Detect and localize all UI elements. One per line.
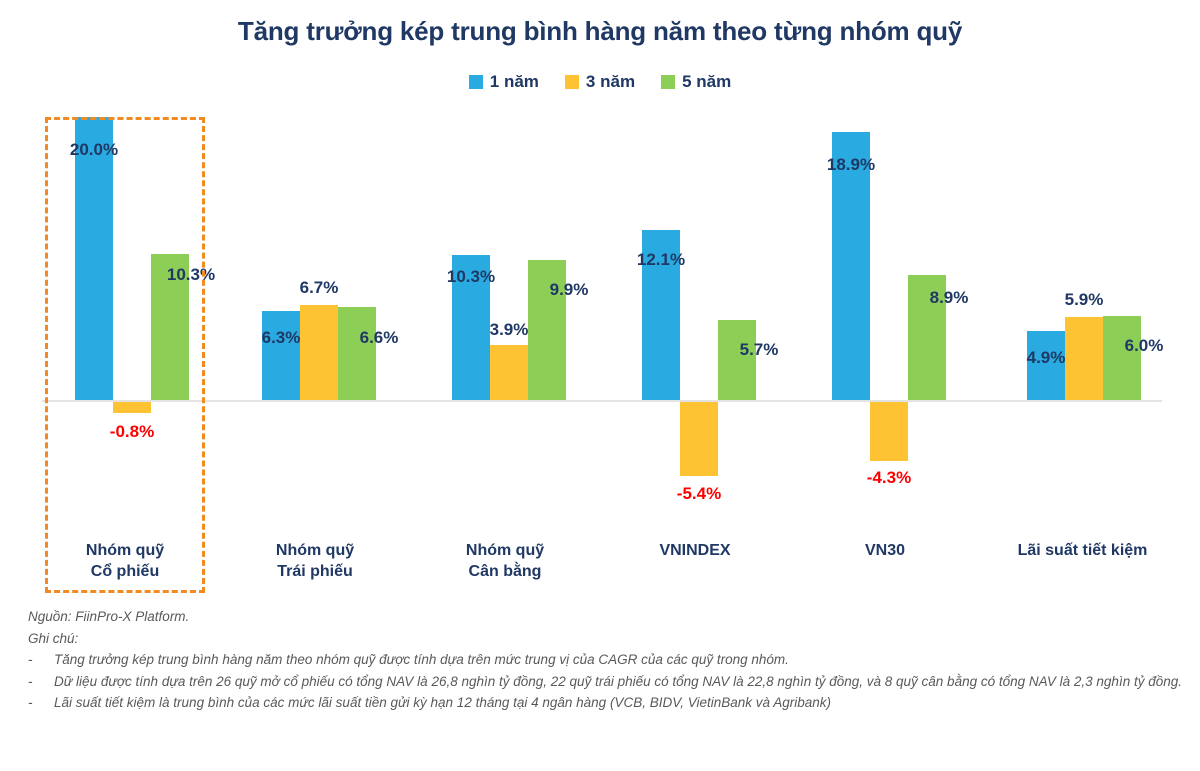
bar-value-1-nam: 18.9% [796,155,906,175]
bar-value-1-nam: 6.3% [226,328,336,348]
legend-item-3-nam[interactable]: 3 năm [565,72,635,92]
bar-group-vn30: 18.9% -4.3% 8.9% VN30 [805,100,965,600]
bar-value-1-nam: 20.0% [39,140,149,160]
bar-3-nam[interactable] [490,345,528,400]
bar-value-3-nam: -4.3% [834,468,944,488]
bar-1-nam[interactable] [262,311,300,400]
bar-value-5-nam: 5.7% [704,340,814,360]
bar-3-nam[interactable] [870,402,908,461]
bar-5-nam[interactable] [718,320,756,400]
legend-item-1-nam[interactable]: 1 năm [469,72,539,92]
legend-label: 5 năm [682,72,731,92]
bar-group-co-phieu: 20.0% -0.8% 10.3% Nhóm quỹ Cổ phiếu [45,100,205,600]
bar-value-1-nam: 10.3% [416,267,526,287]
legend-swatch-icon [565,75,579,89]
bar-5-nam[interactable] [1103,316,1141,400]
bar-group-trai-phieu: 6.3% 6.7% 6.6% Nhóm quỹ Trái phiếu [235,100,395,600]
legend-label: 1 năm [490,72,539,92]
category-label-vn30: VN30 [805,540,965,561]
bar-value-5-nam: 9.9% [514,280,624,300]
bar-5-nam[interactable] [338,307,376,400]
note-item: - Lãi suất tiết kiệm là trung bình của c… [28,692,1188,714]
note-dash: - [28,692,54,714]
category-label-line1: Nhóm quỹ [235,540,395,561]
category-label-line1: VN30 [805,540,965,561]
bar-value-3-nam: -5.4% [644,484,754,504]
category-label-co-phieu: Nhóm quỹ Cổ phiếu [45,540,205,582]
page-title: Tăng trưởng kép trung bình hàng năm theo… [0,16,1200,47]
category-label-line1: Lãi suất tiết kiệm [995,540,1170,561]
chart-legend: 1 năm 3 năm 5 năm [0,72,1200,92]
bar-3-nam[interactable] [113,402,151,413]
bar-3-nam[interactable] [680,402,718,476]
note-text: Dữ liệu được tính dựa trên 26 quỹ mở cổ … [54,671,1188,693]
bar-group-lai-suat-tiet-kiem: 4.9% 5.9% 6.0% Lãi suất tiết kiệm [995,100,1170,600]
bar-value-1-nam: 4.9% [991,348,1101,368]
bar-group-can-bang: 10.3% 3.9% 9.9% Nhóm quỹ Cân bằng [425,100,585,600]
bar-value-5-nam: 6.0% [1089,336,1199,356]
bar-value-3-nam: 3.9% [454,320,564,340]
legend-swatch-icon [661,75,675,89]
category-label-trai-phieu: Nhóm quỹ Trái phiếu [235,540,395,582]
legend-label: 3 năm [586,72,635,92]
note-text: Lãi suất tiết kiệm là trung bình của các… [54,692,1188,714]
bar-value-5-nam: 10.3% [136,265,246,285]
bar-value-1-nam: 12.1% [606,250,716,270]
bar-value-5-nam: 8.9% [894,288,1004,308]
bar-3-nam[interactable] [300,305,338,400]
note-heading: Ghi chú: [28,628,1188,650]
bar-value-3-nam: 6.7% [264,278,374,298]
category-label-can-bang: Nhóm quỹ Cân bằng [425,540,585,582]
footnotes: Nguồn: FiinPro-X Platform. Ghi chú: - Tă… [28,606,1188,714]
legend-item-5-nam[interactable]: 5 năm [661,72,731,92]
bar-value-5-nam: 6.6% [324,328,434,348]
category-label-line1: Nhóm quỹ [425,540,585,561]
category-label-line2: Trái phiếu [235,561,395,582]
chart-plot-area: 20.0% -0.8% 10.3% Nhóm quỹ Cổ phiếu 6.3%… [0,100,1200,600]
source-line: Nguồn: FiinPro-X Platform. [28,606,1188,628]
note-item: - Tăng trưởng kép trung bình hàng năm th… [28,649,1188,671]
note-dash: - [28,671,54,693]
bar-group-vnindex: 12.1% -5.4% 5.7% VNINDEX [615,100,775,600]
category-label-line2: Cổ phiếu [45,561,205,582]
bar-value-3-nam: -0.8% [77,422,187,442]
bar-value-3-nam: 5.9% [1029,290,1139,310]
category-label-line1: Nhóm quỹ [45,540,205,561]
category-label-line1: VNINDEX [615,540,775,561]
note-dash: - [28,649,54,671]
category-label-vnindex: VNINDEX [615,540,775,561]
legend-swatch-icon [469,75,483,89]
category-label-lai-suat-tiet-kiem: Lãi suất tiết kiệm [995,540,1170,561]
note-item: - Dữ liệu được tính dựa trên 26 quỹ mở c… [28,671,1188,693]
note-text: Tăng trưởng kép trung bình hàng năm theo… [54,649,1188,671]
category-label-line2: Cân bằng [425,561,585,582]
zero-baseline-axis [42,400,1162,402]
